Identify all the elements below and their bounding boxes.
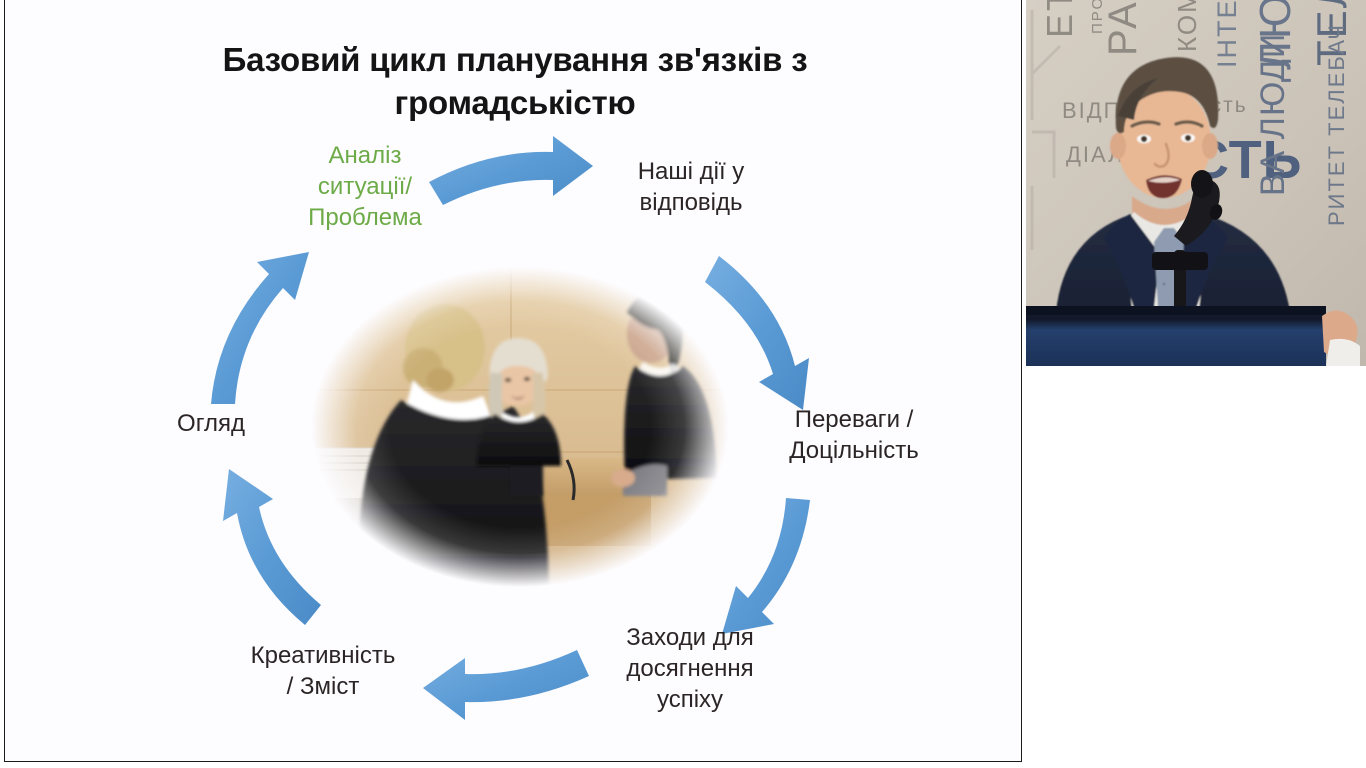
cycle-label-response-text: Наші дії у відповідь [593,156,789,218]
arrow-review-to-analysis [211,252,309,404]
center-image [305,262,735,592]
speaker-video-panel[interactable]: ЕТ ПРО РА КОМУН ІНТЕР ЛЮДИН ТЕЛЕБАЧ ВІДП… [1026,0,1366,366]
cycle-label-actions-text: Заходи для досягнення успіху [585,622,795,715]
svg-text:РИТЕТ ТЕЛЕБАЧ: РИТЕТ ТЕЛЕБАЧ [1324,23,1349,226]
svg-text:ЕТ: ЕТ [1039,0,1080,38]
cycle-label-actions: Заходи для досягнення успіху [585,622,795,715]
cycle-label-creative-text: Креативність / Зміст [221,640,425,702]
slide-title-text: Базовий цикл планування зв'язків з грома… [135,38,895,124]
cycle-label-review-text: Огляд [151,408,271,439]
cycle-label-response: Наші дії у відповідь [593,156,789,218]
arrow-actions-to-creative [423,650,589,720]
cycle-label-review: Огляд [151,408,271,439]
svg-text:РА: РА [1101,0,1145,56]
cycle-label-analysis-text: Аналіз ситуації/ Проблема [267,140,463,233]
courtroom-photo-graphic [305,262,735,592]
screen: Базовий цикл планування зв'язків з грома… [0,0,1366,768]
arrow-benefit-to-actions [722,498,810,634]
cycle-label-analysis: Аналіз ситуації/ Проблема [267,140,463,233]
speaker-video-frame: ЕТ ПРО РА КОМУН ІНТЕР ЛЮДИН ТЕЛЕБАЧ ВІДП… [1026,0,1366,366]
svg-text:ІНТЕР: ІНТЕР [1212,0,1242,68]
svg-text:ВА ЛЮДИ: ВА ЛЮДИ [1254,33,1292,196]
presentation-slide: Базовий цикл планування зв'язків з грома… [4,0,1022,762]
cycle-label-creative: Креативність / Зміст [221,640,425,702]
courtroom-photo [305,262,735,592]
svg-text:КОМУН: КОМУН [1172,0,1202,52]
cycle-label-benefit-text: Переваги / Доцільність [749,404,959,466]
slide-title: Базовий цикл планування зв'язків з грома… [135,38,895,124]
cycle-label-benefit: Переваги / Доцільність [749,404,959,466]
